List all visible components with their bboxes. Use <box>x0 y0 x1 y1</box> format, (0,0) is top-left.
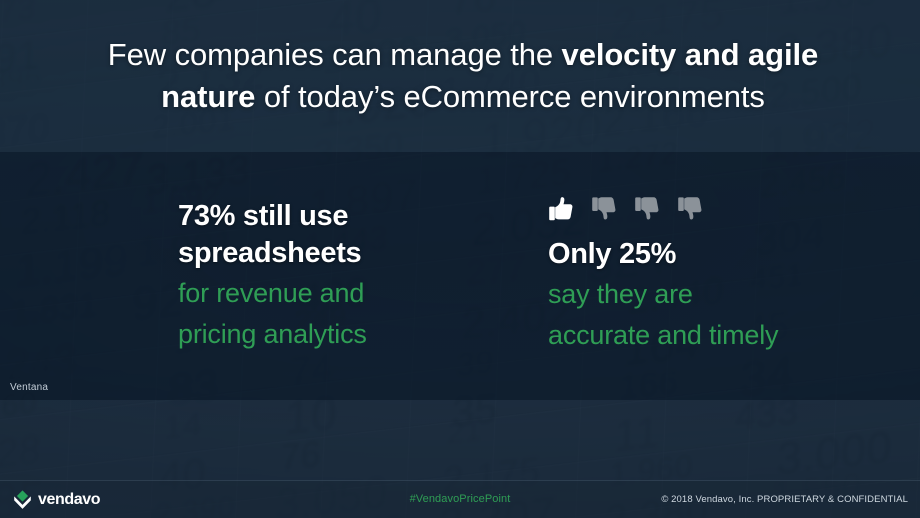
thumbs-down-icon <box>677 196 703 224</box>
stat-subline-line1: for revenue and <box>178 274 428 313</box>
thumbs-rating-row <box>548 196 798 226</box>
stat-block-spreadsheets: 73% still use spreadsheets for revenue a… <box>178 198 428 355</box>
stat-subline-line1: say they are <box>548 275 798 314</box>
stat-headline: Only 25% <box>548 236 798 273</box>
statistics-row: 73% still use spreadsheets for revenue a… <box>178 196 878 355</box>
footer-copyright: © 2018 Vendavo, Inc. PROPRIETARY & CONFI… <box>661 494 908 505</box>
headline-emphasis-nature: nature <box>161 79 255 114</box>
source-attribution: Ventana <box>10 382 48 393</box>
headline-text-part3: of today’s eCommerce environments <box>255 79 764 114</box>
stat-block-accuracy: Only 25% say they are accurate and timel… <box>548 196 798 355</box>
stat-subline-line2: pricing analytics <box>178 315 428 354</box>
headline-text-part1: Few companies can manage the <box>108 37 562 72</box>
thumbs-up-icon <box>548 196 574 224</box>
thumbs-down-icon <box>591 196 617 224</box>
thumbs-down-icon <box>634 196 660 224</box>
headline-emphasis-velocity: velocity and agile <box>562 37 819 72</box>
slide-headline: Few companies can manage the velocity an… <box>60 34 866 118</box>
presentation-slide: 4513686083743916445732814103516634918540… <box>0 0 920 518</box>
stat-subline-line2: accurate and timely <box>548 316 798 355</box>
stat-headline: 73% still use spreadsheets <box>178 198 428 272</box>
slide-footer: vendavo #VendavoPricePoint © 2018 Vendav… <box>0 480 920 518</box>
